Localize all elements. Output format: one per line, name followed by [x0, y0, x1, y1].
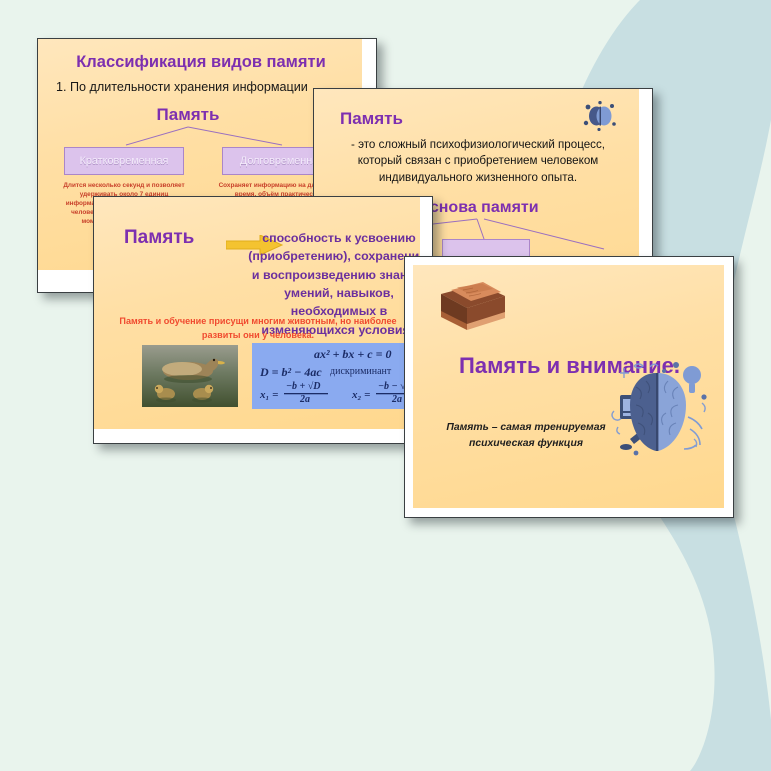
brain-splatter-icon	[583, 101, 617, 131]
formula-discriminant: D = b² − 4ac	[260, 365, 322, 380]
slide-memory-attention[interactable]: Память и внимание. Память – самая тренир…	[404, 256, 734, 518]
slide2-title: Память	[340, 109, 403, 129]
slide4-caption-line1: Память – самая тренируемая	[446, 422, 605, 433]
formula-x1-fraction-bar	[284, 393, 328, 395]
duck-with-ducklings-photo	[142, 345, 238, 407]
slide-ability-canvas: Память способность к усвоению (приобрете…	[94, 197, 420, 429]
slide3-formula-box: ax² + bx + c = 0 D = b² − 4ac дискримина…	[252, 343, 420, 409]
slide-ability[interactable]: Память способность к усвоению (приобрете…	[93, 196, 433, 444]
slide3-title: Память	[124, 227, 194, 249]
formula-x1-numerator: −b + √D	[286, 381, 320, 392]
book-icon	[435, 280, 509, 340]
slide4-caption-line2: психическая функция	[469, 438, 583, 449]
slide1-box-short-term[interactable]: Кратковременная	[64, 147, 184, 175]
slide4-caption: Память – самая тренируемая психическая ф…	[431, 420, 621, 452]
presentation-collage: Классификация видов памяти 1. По длитель…	[0, 0, 771, 771]
slide1-box-short-term-label: Кратковременная	[80, 155, 169, 167]
slide3-note: Память и обучение присущи многим животны…	[108, 315, 408, 342]
slide1-box-long-term-label: Долговременная	[240, 155, 324, 167]
slide1-root-node: Память	[38, 105, 338, 125]
formula-x1-label: x₁ =	[260, 389, 278, 401]
slide-memory-attention-canvas: Память и внимание. Память – самая тренир…	[413, 265, 724, 508]
formula-x1-denominator: 2a	[300, 394, 310, 405]
formula-x2-label: x₂ =	[352, 389, 370, 401]
slide1-title: Классификация видов памяти	[38, 53, 362, 72]
formula-quadratic: ax² + bx + c = 0	[314, 347, 391, 362]
slide2-body: - это сложный психофизиологический проце…	[328, 137, 628, 186]
slide1-subtitle: 1. По длительности хранения информации	[56, 80, 308, 94]
formula-x2-denominator: 2a	[392, 394, 402, 405]
brain-hemispheres-icon	[606, 357, 710, 463]
formula-discriminant-label: дискриминант	[330, 366, 391, 377]
